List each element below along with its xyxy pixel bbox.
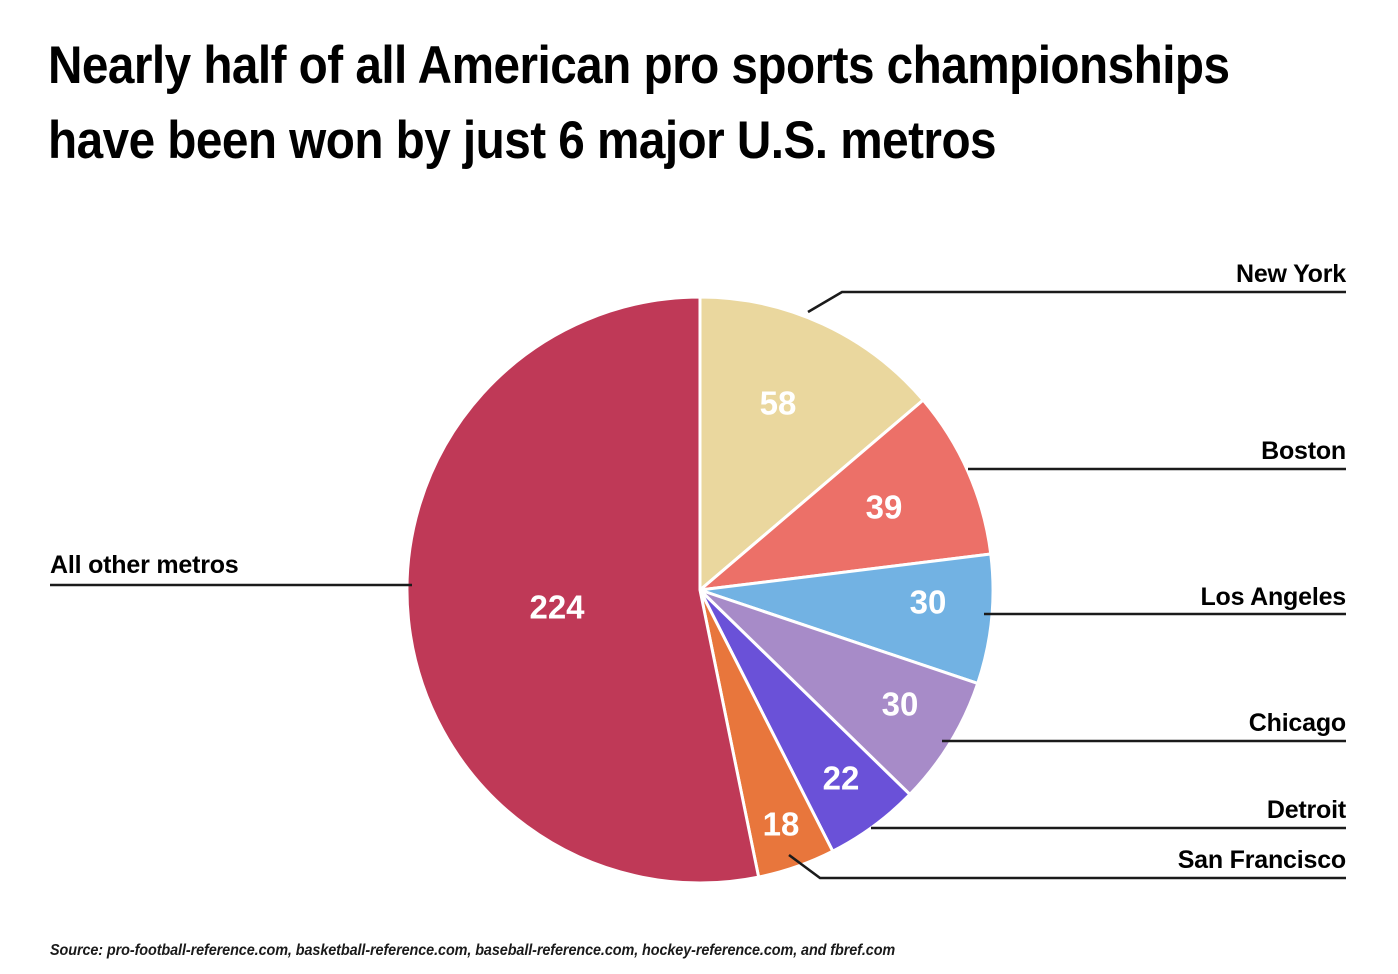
pie-value-all-other-metros: 224 (529, 589, 585, 626)
callout-label-los-angeles[interactable]: Los Angeles (1200, 583, 1346, 612)
pie-chart: 58 39 30 30 22 18 224 (0, 0, 1398, 974)
pie-value-detroit: 22 (823, 760, 860, 797)
leader-line-new-york (808, 292, 1346, 312)
callout-label-san-francisco[interactable]: San Francisco (1178, 846, 1346, 875)
callout-label-boston[interactable]: Boston (1261, 437, 1346, 466)
callout-label-chicago[interactable]: Chicago (1249, 709, 1346, 738)
pie-value-new-york: 58 (760, 385, 797, 422)
callout-label-detroit[interactable]: Detroit (1267, 796, 1346, 825)
callout-label-all-other-metros[interactable]: All other metros (50, 551, 239, 580)
pie-value-los-angeles: 30 (910, 584, 947, 621)
callout-label-new-york[interactable]: New York (1236, 260, 1346, 289)
pie-value-boston: 39 (866, 489, 903, 526)
pie-value-chicago: 30 (882, 686, 919, 723)
pie-slices (407, 297, 993, 883)
source-note: Source: pro-football-reference.com, bask… (50, 942, 895, 960)
pie-chart-svg: 58 39 30 30 22 18 224 (0, 0, 1398, 974)
chart-page: Nearly half of all American pro sports c… (0, 0, 1398, 974)
pie-value-san-francisco: 18 (763, 806, 800, 843)
